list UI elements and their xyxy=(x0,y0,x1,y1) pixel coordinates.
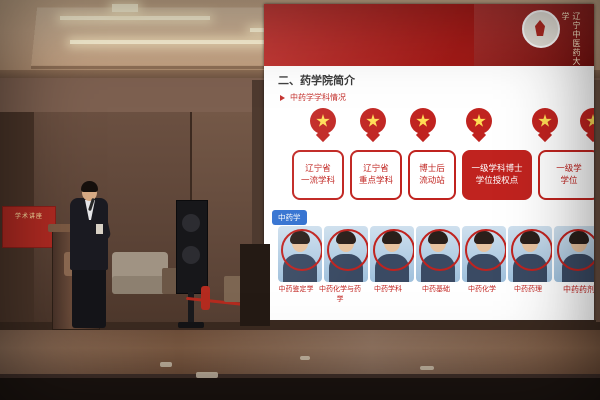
floor-debris xyxy=(160,362,172,367)
ceiling-light-2 xyxy=(70,40,270,44)
loudspeaker-base xyxy=(178,322,204,328)
portrait xyxy=(324,226,368,282)
portrait-row: 中药鉴定学 中药化学与药学 中药学科 中药基础 中药化学 中药药理 xyxy=(270,226,594,298)
discipline-box-line1: 一级学 xyxy=(556,163,582,173)
slide-subtitle: 中药学学科情况 xyxy=(290,92,346,103)
discipline-box-highlighted: 一级学科博士 学位授权点 xyxy=(462,150,532,200)
discipline-box-line1: 一级学科博士 xyxy=(471,163,522,173)
loudspeaker-driver xyxy=(182,246,200,264)
ceiling-light-3 xyxy=(112,4,138,12)
presenter-legs xyxy=(72,266,106,328)
map-pin-star-icon xyxy=(532,108,558,140)
portrait xyxy=(278,226,322,282)
subject-tag: 中药学 xyxy=(272,210,307,225)
fire-extinguisher xyxy=(201,286,210,310)
discipline-box-line1: 博士后 xyxy=(419,163,445,173)
discipline-box-line2: 一流学科 xyxy=(301,175,335,185)
projection-screen: 辽宁中医药大学 二、药学院简介 中药学学科情况 xyxy=(264,4,594,322)
discipline-box: 辽宁省 一流学科 xyxy=(292,150,344,200)
discipline-box-line2: 重点学科 xyxy=(359,175,393,185)
discipline-box-line2: 流动站 xyxy=(419,175,445,185)
discipline-box-row: 辽宁省 一流学科 辽宁省 重点学科 博士后 流动站 一级学科博士 学位授权点 一… xyxy=(270,150,594,208)
floor-debris xyxy=(196,372,218,378)
discipline-box: 一级学 学位 xyxy=(538,150,594,200)
floor-debris xyxy=(300,356,310,360)
map-pin-star-icon xyxy=(310,108,336,140)
map-pin-star-icon xyxy=(410,108,436,140)
portrait xyxy=(554,226,594,282)
discipline-box-line2: 学位 xyxy=(560,175,577,185)
wall-banner-text: 学术讲座 xyxy=(7,213,51,222)
portrait xyxy=(508,226,552,282)
map-pin-star-icon xyxy=(466,108,492,140)
loudspeaker-driver xyxy=(182,214,200,232)
portrait-label: 中药鉴定学 xyxy=(274,284,318,294)
portrait xyxy=(416,226,460,282)
portrait xyxy=(462,226,506,282)
school-name: 辽宁中医药大学 xyxy=(560,12,582,66)
portrait-label: 中药药理 xyxy=(506,284,550,294)
armchair-seat xyxy=(112,276,168,294)
presenter-hair xyxy=(81,181,98,192)
ceiling-light-1 xyxy=(60,16,210,20)
slide-header-band: 辽宁中医药大学 xyxy=(264,4,594,66)
presenter-badge xyxy=(96,224,103,234)
portrait-label: 中药化学与药学 xyxy=(318,284,362,304)
discipline-box-line1: 辽宁省 xyxy=(305,163,331,173)
discipline-box: 辽宁省 重点学科 xyxy=(350,150,402,200)
discipline-box: 博士后 流动站 xyxy=(408,150,456,200)
discipline-box-line2: 学位授权点 xyxy=(476,175,519,185)
portrait-label: 中药化学 xyxy=(460,284,504,294)
school-emblem-icon xyxy=(522,10,560,48)
slide-title: 二、药学院简介 xyxy=(278,72,355,88)
floor-debris xyxy=(420,366,434,370)
portrait xyxy=(370,226,414,282)
stage-dark-corner xyxy=(240,244,270,326)
portrait-label: 中药药剂 xyxy=(554,284,594,295)
lecture-hall-photo: 学术讲座 辽宁中医药大学 二、药学院简介 中药学学科情况 xyxy=(0,0,600,400)
discipline-box-line1: 辽宁省 xyxy=(363,163,389,173)
foreground-shadow xyxy=(0,378,600,400)
map-pin-star-icon xyxy=(580,108,594,140)
portrait-label: 中药基础 xyxy=(414,284,458,294)
map-pin-star-icon xyxy=(360,108,386,140)
portrait-label: 中药学科 xyxy=(366,284,410,294)
